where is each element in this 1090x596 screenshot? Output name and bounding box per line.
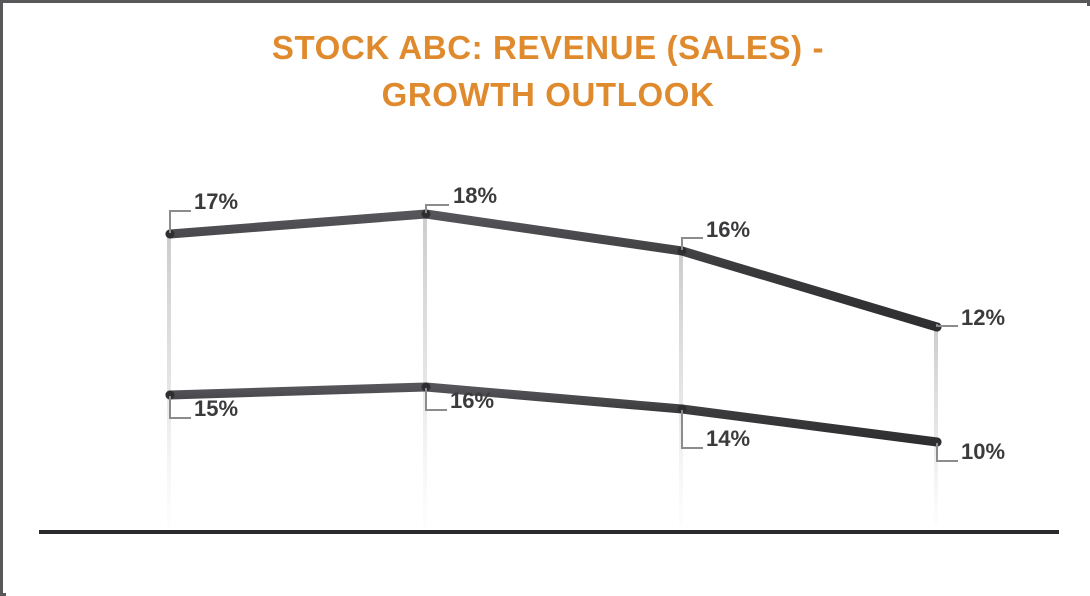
series-lower xyxy=(166,383,942,447)
series-upper-line xyxy=(170,214,937,327)
data-label-lower-3: 14% xyxy=(706,428,750,450)
dropline-2 xyxy=(423,213,427,526)
leader-line-group xyxy=(170,205,957,461)
data-label-lower-1: 15% xyxy=(194,398,238,420)
dropline-1 xyxy=(167,234,171,526)
series-lower-line xyxy=(170,387,937,442)
data-label-lower-4: 10% xyxy=(961,441,1005,463)
leader-lower-1 xyxy=(170,397,190,418)
chart-canvas: STOCK ABC: REVENUE (SALES) - GROWTH OUTL… xyxy=(6,6,1090,596)
leader-lower-4 xyxy=(937,444,957,461)
dropline-group xyxy=(167,213,938,526)
data-label-lower-2: 16% xyxy=(450,390,494,412)
dropline-4 xyxy=(934,326,938,526)
plot-area xyxy=(6,6,1090,596)
series-upper xyxy=(166,210,942,332)
data-label-upper-4: 12% xyxy=(961,307,1005,329)
data-label-upper-3: 16% xyxy=(706,219,750,241)
dropline-3 xyxy=(679,250,683,526)
leader-upper-4 xyxy=(937,325,957,326)
data-label-upper-2: 18% xyxy=(453,185,497,207)
data-label-upper-1: 17% xyxy=(194,191,238,213)
leader-lower-3 xyxy=(682,411,702,448)
chart-frame: STOCK ABC: REVENUE (SALES) - GROWTH OUTL… xyxy=(0,0,1090,596)
